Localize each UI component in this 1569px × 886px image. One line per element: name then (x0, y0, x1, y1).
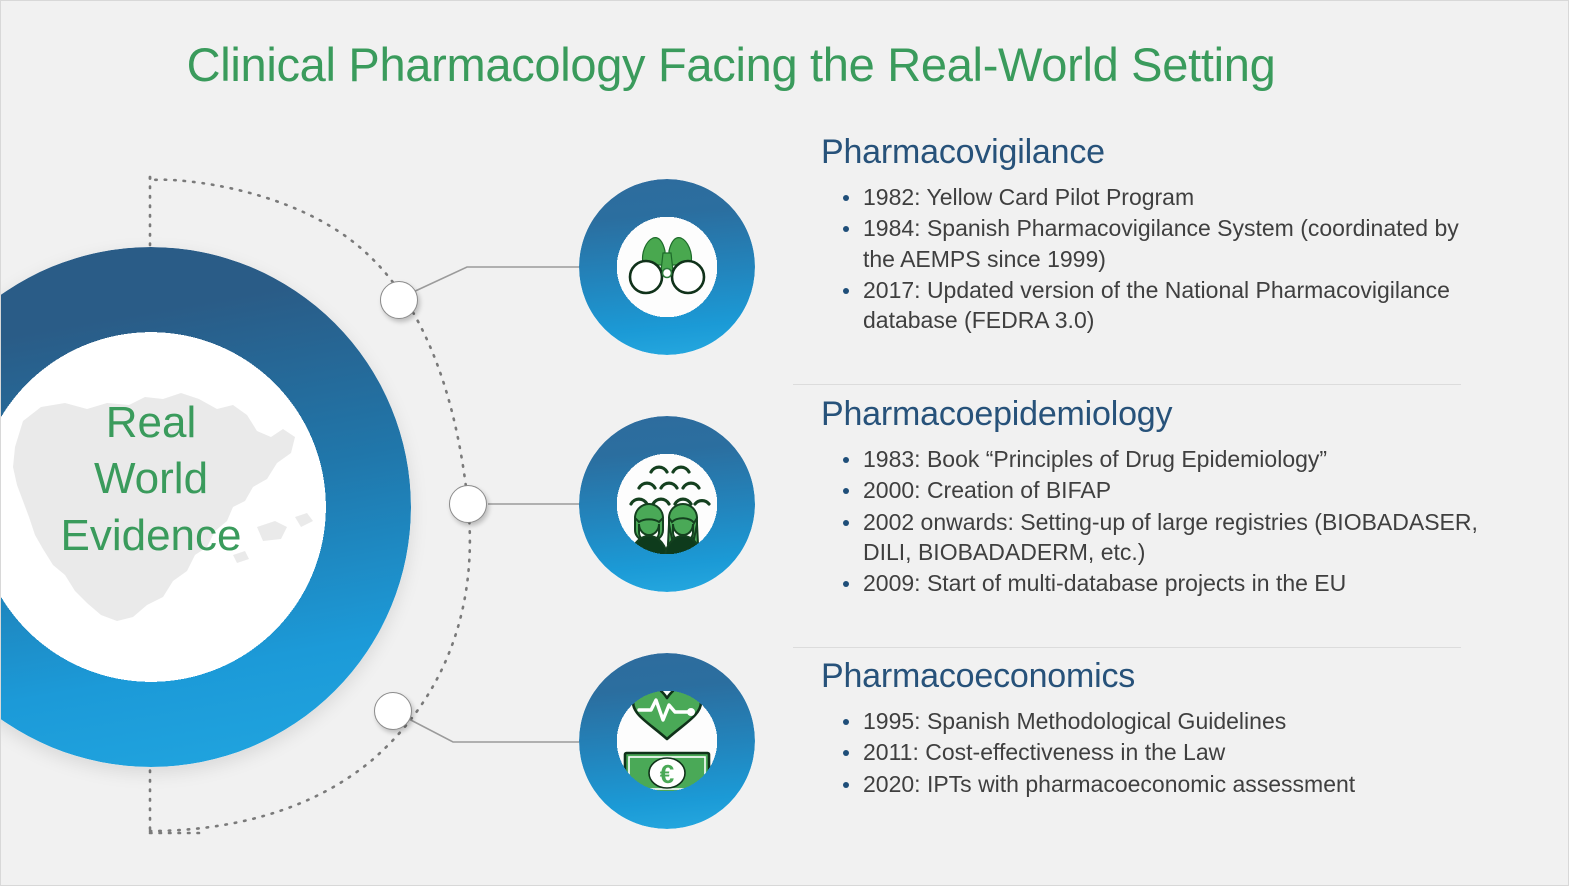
hub-label-line-3: Evidence (0, 508, 411, 564)
list-item: 1982: Yellow Card Pilot Program (821, 182, 1481, 212)
list-item: 2009: Start of multi-database projects i… (821, 568, 1481, 598)
section-divider-1 (793, 384, 1461, 385)
section-pharmacoeconomics: Pharmacoeconomics 1995: Spanish Methodol… (821, 657, 1481, 800)
real-world-evidence-hub: Real World Evidence (0, 247, 411, 767)
section-title-pharmacovigilance: Pharmacovigilance (821, 133, 1481, 172)
icon-circle-pharmacovigilance[interactable] (579, 179, 755, 355)
hub-label-line-2: World (0, 451, 411, 507)
page-title: Clinical Pharmacology Facing the Real-Wo… (1, 37, 1461, 92)
icon-circle-ring (579, 179, 755, 355)
section-divider-2 (793, 647, 1461, 648)
list-item: 2002 onwards: Setting-up of large regist… (821, 507, 1481, 568)
section-title-pharmacoeconomics: Pharmacoeconomics (821, 657, 1481, 696)
icon-circle-pharmacoepidemiology[interactable] (579, 416, 755, 592)
list-item: 1984: Spanish Pharmacovigilance System (… (821, 213, 1481, 274)
hub-label-line-1: Real (0, 395, 411, 451)
hub-label: Real World Evidence (0, 395, 411, 564)
list-item: 2020: IPTs with pharmacoeconomic assessm… (821, 769, 1481, 799)
infographic-slide: Clinical Pharmacology Facing the Real-Wo… (0, 0, 1569, 886)
section-pharmacovigilance: Pharmacovigilance 1982: Yellow Card Pilo… (821, 133, 1481, 337)
node-pharmacoeconomics[interactable] (374, 692, 412, 730)
bullet-list-pharmacoeconomics: 1995: Spanish Methodological Guidelines … (821, 706, 1481, 799)
section-pharmacoepidemiology: Pharmacoepidemiology 1983: Book “Princip… (821, 395, 1481, 600)
list-item: 1983: Book “Principles of Drug Epidemiol… (821, 444, 1481, 474)
list-item: 2011: Cost-effectiveness in the Law (821, 737, 1481, 767)
node-pharmacoepidemiology[interactable] (449, 485, 487, 523)
list-item: 2000: Creation of BIFAP (821, 475, 1481, 505)
icon-circle-ring (579, 653, 755, 829)
icon-circle-ring (579, 416, 755, 592)
section-title-pharmacoepidemiology: Pharmacoepidemiology (821, 395, 1481, 434)
list-item: 1995: Spanish Methodological Guidelines (821, 706, 1481, 736)
list-item: 2017: Updated version of the National Ph… (821, 275, 1481, 336)
icon-circle-pharmacoeconomics[interactable]: € (579, 653, 755, 829)
connector-line-3 (405, 717, 579, 742)
node-pharmacovigilance[interactable] (380, 281, 418, 319)
bullet-list-pharmacoepidemiology: 1983: Book “Principles of Drug Epidemiol… (821, 444, 1481, 599)
connector-line-1 (411, 267, 579, 293)
bullet-list-pharmacovigilance: 1982: Yellow Card Pilot Program 1984: Sp… (821, 182, 1481, 336)
